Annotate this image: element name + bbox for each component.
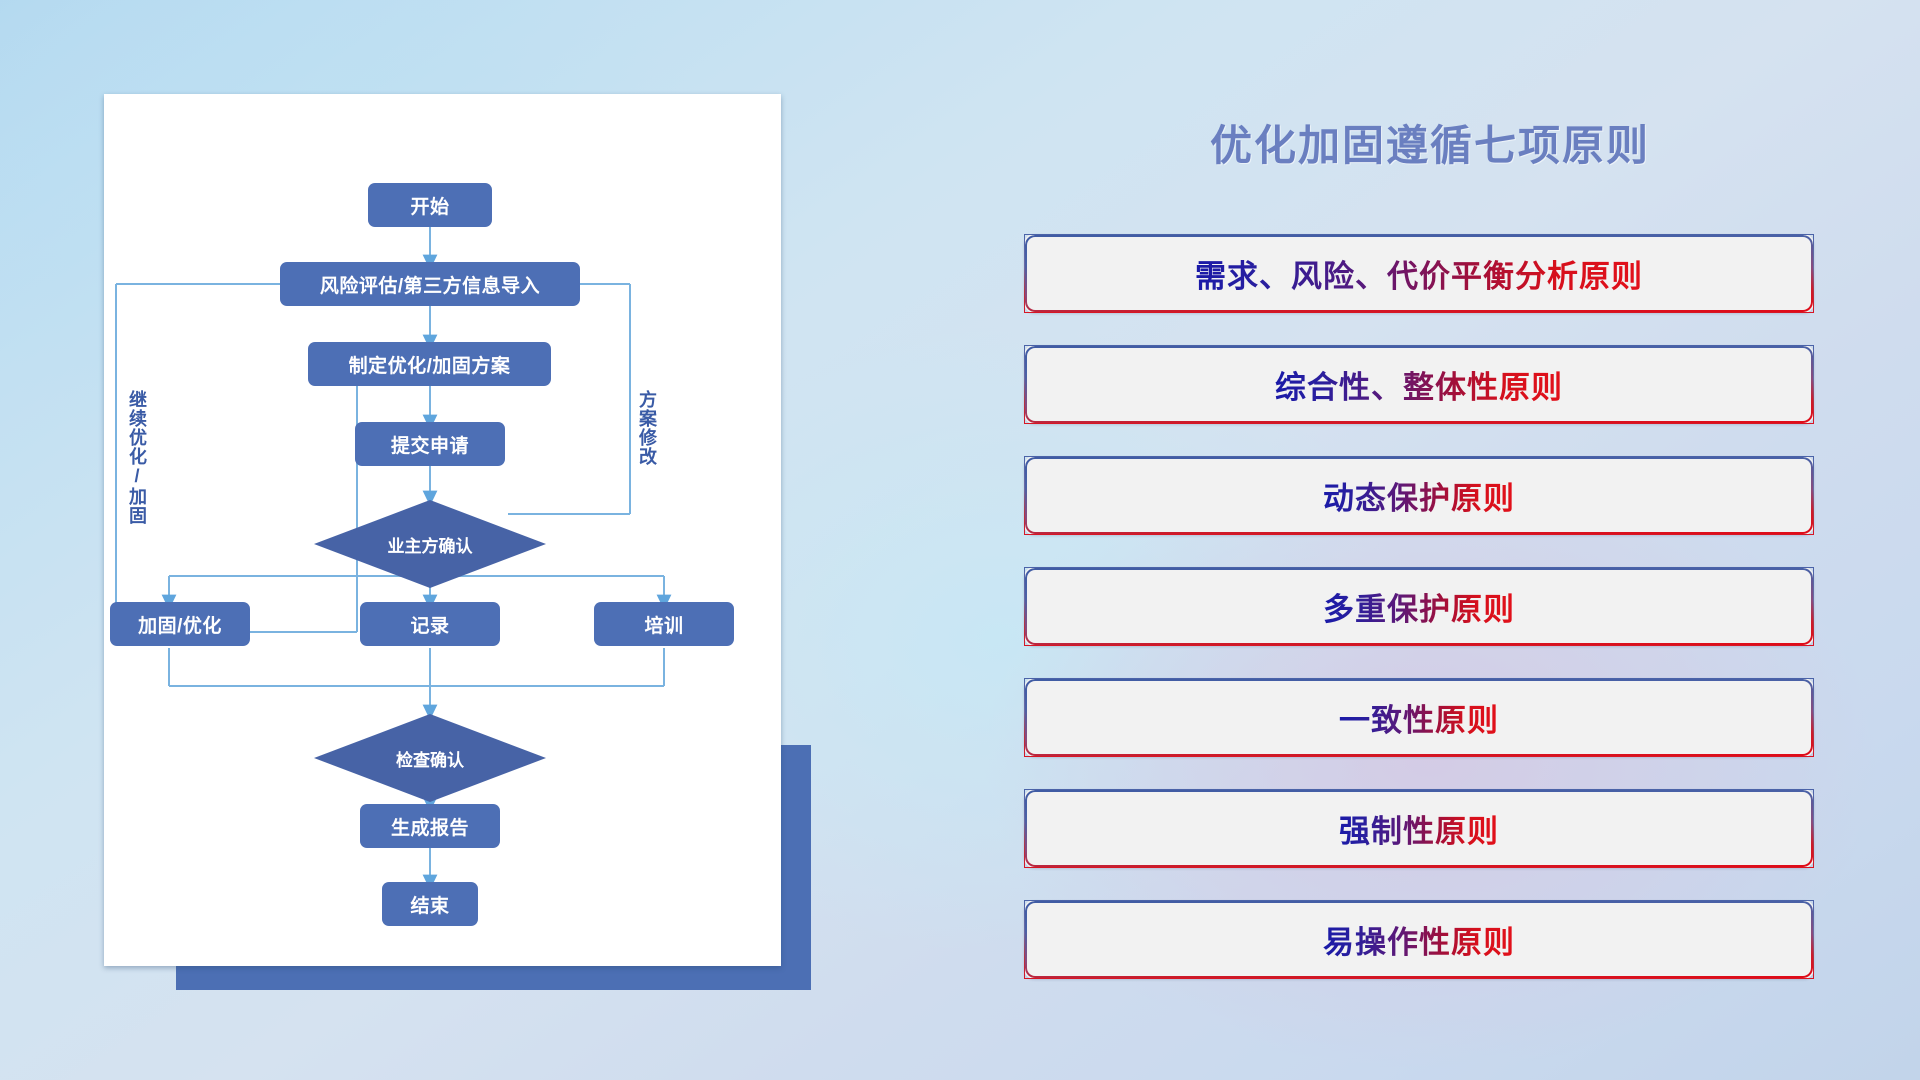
principle-item-3-label: 动态保护原则	[1323, 473, 1515, 518]
page-title: 优化加固遵循七项原则	[1020, 112, 1840, 173]
flow-node-plan[interactable]: 制定优化/加固方案	[308, 342, 551, 386]
flow-node-risk-assessment[interactable]: 风险评估/第三方信息导入	[280, 262, 580, 306]
principle-item-4[interactable]: 多重保护原则	[1024, 567, 1814, 646]
principle-item-2[interactable]: 综合性、整体性原则	[1024, 345, 1814, 424]
principle-item-5-label: 一致性原则	[1339, 695, 1499, 740]
flow-node-check-confirm-label: 检查确认	[396, 746, 464, 771]
flow-node-reinforce-label: 加固/优化	[138, 611, 222, 638]
principle-item-7-label: 易操作性原则	[1323, 917, 1515, 962]
flow-node-start-label: 开始	[410, 192, 449, 219]
principle-item-4-label: 多重保护原则	[1323, 584, 1515, 629]
flow-node-plan-label: 制定优化/加固方案	[349, 351, 511, 378]
flow-node-record[interactable]: 记录	[360, 602, 500, 646]
flow-node-reinforce[interactable]: 加固/优化	[110, 602, 250, 646]
principles-pane: 优化加固遵循七项原则 需求、风险、代价平衡分析原则 综合性、整体性原则 动态保护…	[1020, 0, 1900, 1080]
flow-node-generate-report-label: 生成报告	[391, 813, 469, 840]
flow-node-submit-label: 提交申请	[391, 431, 469, 458]
principle-item-1[interactable]: 需求、风险、代价平衡分析原则	[1024, 234, 1814, 313]
principles-list: 需求、风险、代价平衡分析原则 综合性、整体性原则 动态保护原则 多重保护原则 一…	[1024, 234, 1814, 1011]
principle-item-6[interactable]: 强制性原则	[1024, 789, 1814, 868]
slide-canvas: 开始 风险评估/第三方信息导入 制定优化/加固方案 提交申请 业主方确认 加固/…	[0, 0, 1920, 1080]
flow-node-training-label: 培训	[644, 611, 683, 638]
principle-item-2-label: 综合性、整体性原则	[1275, 362, 1563, 407]
principle-item-1-label: 需求、风险、代价平衡分析原则	[1195, 251, 1643, 296]
principle-item-7[interactable]: 易操作性原则	[1024, 900, 1814, 979]
flow-node-owner-confirm-label: 业主方确认	[388, 532, 473, 557]
flow-node-risk-assessment-label: 风险评估/第三方信息导入	[320, 271, 540, 298]
flow-node-generate-report[interactable]: 生成报告	[360, 804, 500, 848]
flow-edge-label-plan-revision: 方案修改	[638, 390, 656, 466]
flow-node-training[interactable]: 培训	[594, 602, 734, 646]
principle-item-5[interactable]: 一致性原则	[1024, 678, 1814, 757]
flow-edge-label-continue-optimize: 继续优化/加固	[128, 390, 146, 525]
principle-item-6-label: 强制性原则	[1339, 806, 1499, 851]
flowchart-card: 开始 风险评估/第三方信息导入 制定优化/加固方案 提交申请 业主方确认 加固/…	[104, 94, 781, 966]
flow-node-record-label: 记录	[410, 611, 449, 638]
flow-node-start[interactable]: 开始	[368, 183, 492, 227]
flow-node-check-confirm[interactable]: 检查确认	[314, 714, 546, 802]
flow-node-end-label: 结束	[410, 891, 449, 918]
flow-node-end[interactable]: 结束	[382, 882, 478, 926]
principle-item-3[interactable]: 动态保护原则	[1024, 456, 1814, 535]
flow-node-owner-confirm[interactable]: 业主方确认	[314, 500, 546, 588]
flow-node-submit[interactable]: 提交申请	[355, 422, 505, 466]
